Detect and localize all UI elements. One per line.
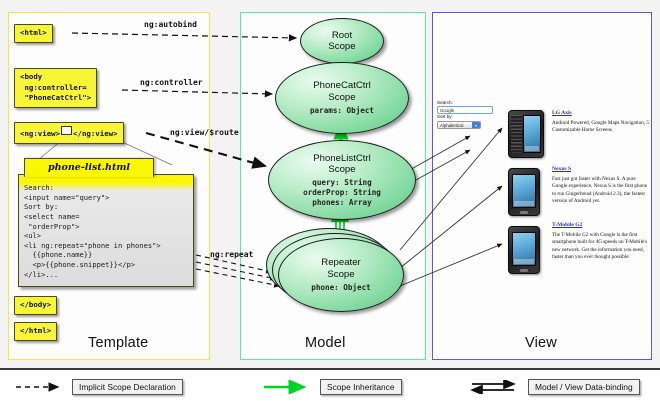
legend-item-implicit-scope-declaration: Implicit Scope Declaration xyxy=(14,378,183,396)
phonelistctrl-scope: PhoneListCtrlScope query: String orderPr… xyxy=(268,140,416,220)
list-item: LG Axis Android Powered, Google Maps Nav… xyxy=(552,110,652,135)
phone-image-lg-axis xyxy=(508,110,544,158)
repeater-scope-props: phone: Object xyxy=(311,283,370,293)
repeater-scope-title: RepeaterScope xyxy=(321,257,360,279)
legend-item-model-view-data-binding: Model / View Data-binding xyxy=(470,378,640,396)
phonecatctrl-scope: PhoneCatCtrlScope params: Object xyxy=(275,62,409,134)
wire-ng-repeat-2 xyxy=(196,262,276,279)
label-ng-controller: ng:controller xyxy=(140,78,203,87)
phonecatctrl-scope-title: PhoneCatCtrlScope xyxy=(313,80,371,102)
phone-link[interactable]: LG Axis xyxy=(552,110,652,117)
phonelistctrl-scope-props: query: String orderProp: String phones: … xyxy=(303,178,381,208)
phone-snippet: The T-Mobile G2 with Google is the first… xyxy=(552,232,652,261)
phone-image-t-mobile-g2 xyxy=(508,226,540,274)
search-input[interactable]: Google xyxy=(437,106,493,114)
list-item: Nexus S Fast just got faster with Nexus … xyxy=(552,166,652,205)
legend-label: Scope Inheritance xyxy=(320,379,402,396)
bind-phone-3 xyxy=(400,244,502,286)
label-ng-autobind: ng:autobind xyxy=(144,20,197,29)
callout-title: phone-list.html xyxy=(24,158,154,177)
chevron-down-icon: ▾ xyxy=(472,122,480,128)
sort-select[interactable]: Alphabetical▾ xyxy=(437,121,481,129)
tag-html-open: <html> xyxy=(14,24,53,43)
tag-ngview: <ng:view></ng:view> xyxy=(14,122,124,144)
ngview-placeholder-icon xyxy=(61,126,72,135)
phone-list-callout: phone-list.html Search: <input name="que… xyxy=(18,158,196,290)
double-arrow-icon xyxy=(470,380,522,394)
callout-code: Search: <input name="query"> Sort by: <s… xyxy=(24,183,188,279)
column-label-template: Template xyxy=(88,335,148,351)
phone-link[interactable]: T-Mobile G2 xyxy=(552,222,652,229)
phone-home-button xyxy=(520,269,528,272)
column-label-view: View xyxy=(525,335,557,351)
phone-screen xyxy=(523,115,541,153)
phonecatctrl-scope-props: params: Object xyxy=(310,106,374,116)
tag-body-open: <body ng:controller= "PhoneCatCtrl"> xyxy=(14,68,97,108)
tag-ngview-close: </ng:view> xyxy=(73,129,118,138)
legend-label: Model / View Data-binding xyxy=(528,379,640,396)
list-item: T-Mobile G2 The T-Mobile G2 with Google … xyxy=(552,222,652,261)
column-label-model: Model xyxy=(305,335,346,351)
phone-screen xyxy=(512,174,536,208)
tag-body-close: </body> xyxy=(14,296,57,315)
repeater-scope: RepeaterScope phone: Object xyxy=(278,238,404,312)
phone-snippet: Android Powered, Google Maps Navigation,… xyxy=(552,120,652,134)
phone-snippet: Fast just got faster with Nexus S. A pur… xyxy=(552,176,652,205)
wire-ng-controller xyxy=(122,90,272,94)
tag-html-close: </html> xyxy=(14,322,57,341)
label-ng-view-route: ng:view/$route xyxy=(170,128,239,137)
phone-screen xyxy=(512,232,536,266)
legend-item-scope-inheritance: Scope Inheritance xyxy=(262,378,402,396)
diagram-canvas: ng:autobind ng:controller ng:view/$route… xyxy=(0,0,660,405)
phone-home-button xyxy=(520,211,528,214)
phonelistctrl-scope-title: PhoneListCtrlScope xyxy=(313,153,371,175)
solid-arrow-icon xyxy=(262,380,314,394)
legend: Implicit Scope Declaration Scope Inherit… xyxy=(0,368,660,407)
callout-body: Search: <input name="query"> Sort by: <s… xyxy=(18,174,194,287)
root-scope-title: RootScope xyxy=(328,30,355,52)
bind-phone-2 xyxy=(400,186,502,268)
phone-image-nexus-s xyxy=(508,168,540,216)
wire-ng-autobind xyxy=(72,33,296,38)
sort-select-value: Alphabetical xyxy=(440,123,463,128)
tag-ngview-open: <ng:view> xyxy=(20,129,60,138)
legend-label: Implicit Scope Declaration xyxy=(72,379,183,396)
label-ng-repeat: ng:repeat xyxy=(210,250,253,259)
root-scope: RootScope xyxy=(300,18,384,64)
phone-link[interactable]: Nexus S xyxy=(552,166,652,173)
dashed-arrow-icon xyxy=(14,380,66,394)
sort-label: Sort by: xyxy=(437,114,499,120)
view-search-form: Search: Google Sort by: Alphabetical▾ xyxy=(437,100,499,129)
